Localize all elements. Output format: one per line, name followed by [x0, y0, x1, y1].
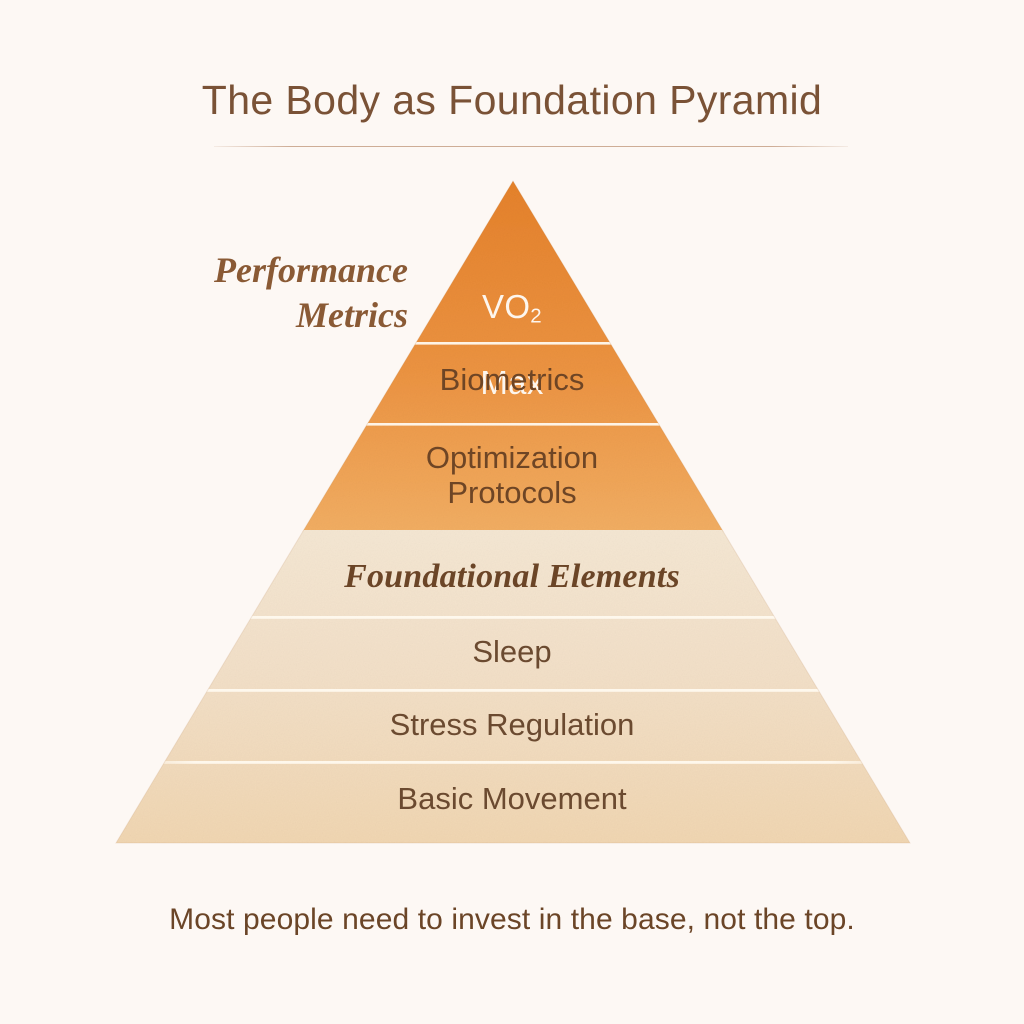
pyramid-diagram — [0, 0, 1024, 1024]
divider-stress-movement — [116, 761, 910, 764]
tier-label-optimization-protocols: Optimization Protocols — [0, 441, 1024, 510]
tier-label-vo2-subscript: 2 — [530, 304, 542, 327]
divider-biometrics-optimization — [116, 423, 910, 426]
infographic-canvas: The Body as Foundation Pyramid — [0, 0, 1024, 1024]
tier-label-biometrics: Biometrics — [0, 363, 1024, 398]
tier-label-vo2-prefix: VO — [482, 288, 530, 325]
tier-label-sleep: Sleep — [0, 635, 1024, 670]
pyramid-svg — [0, 0, 1024, 1024]
tier-label-stress-regulation: Stress Regulation — [0, 708, 1024, 743]
pyramid-tier-dividers — [116, 342, 910, 764]
divider-foundational-sleep — [116, 616, 910, 619]
title-block: The Body as Foundation Pyramid — [0, 78, 1024, 123]
page-title: The Body as Foundation Pyramid — [0, 78, 1024, 123]
divider-sleep-stress — [116, 689, 910, 692]
title-divider-rule — [214, 146, 848, 147]
tier-label-basic-movement: Basic Movement — [0, 782, 1024, 817]
section-heading-foundational-elements: Foundational Elements — [0, 558, 1024, 596]
caption-text: Most people need to invest in the base, … — [0, 903, 1024, 937]
